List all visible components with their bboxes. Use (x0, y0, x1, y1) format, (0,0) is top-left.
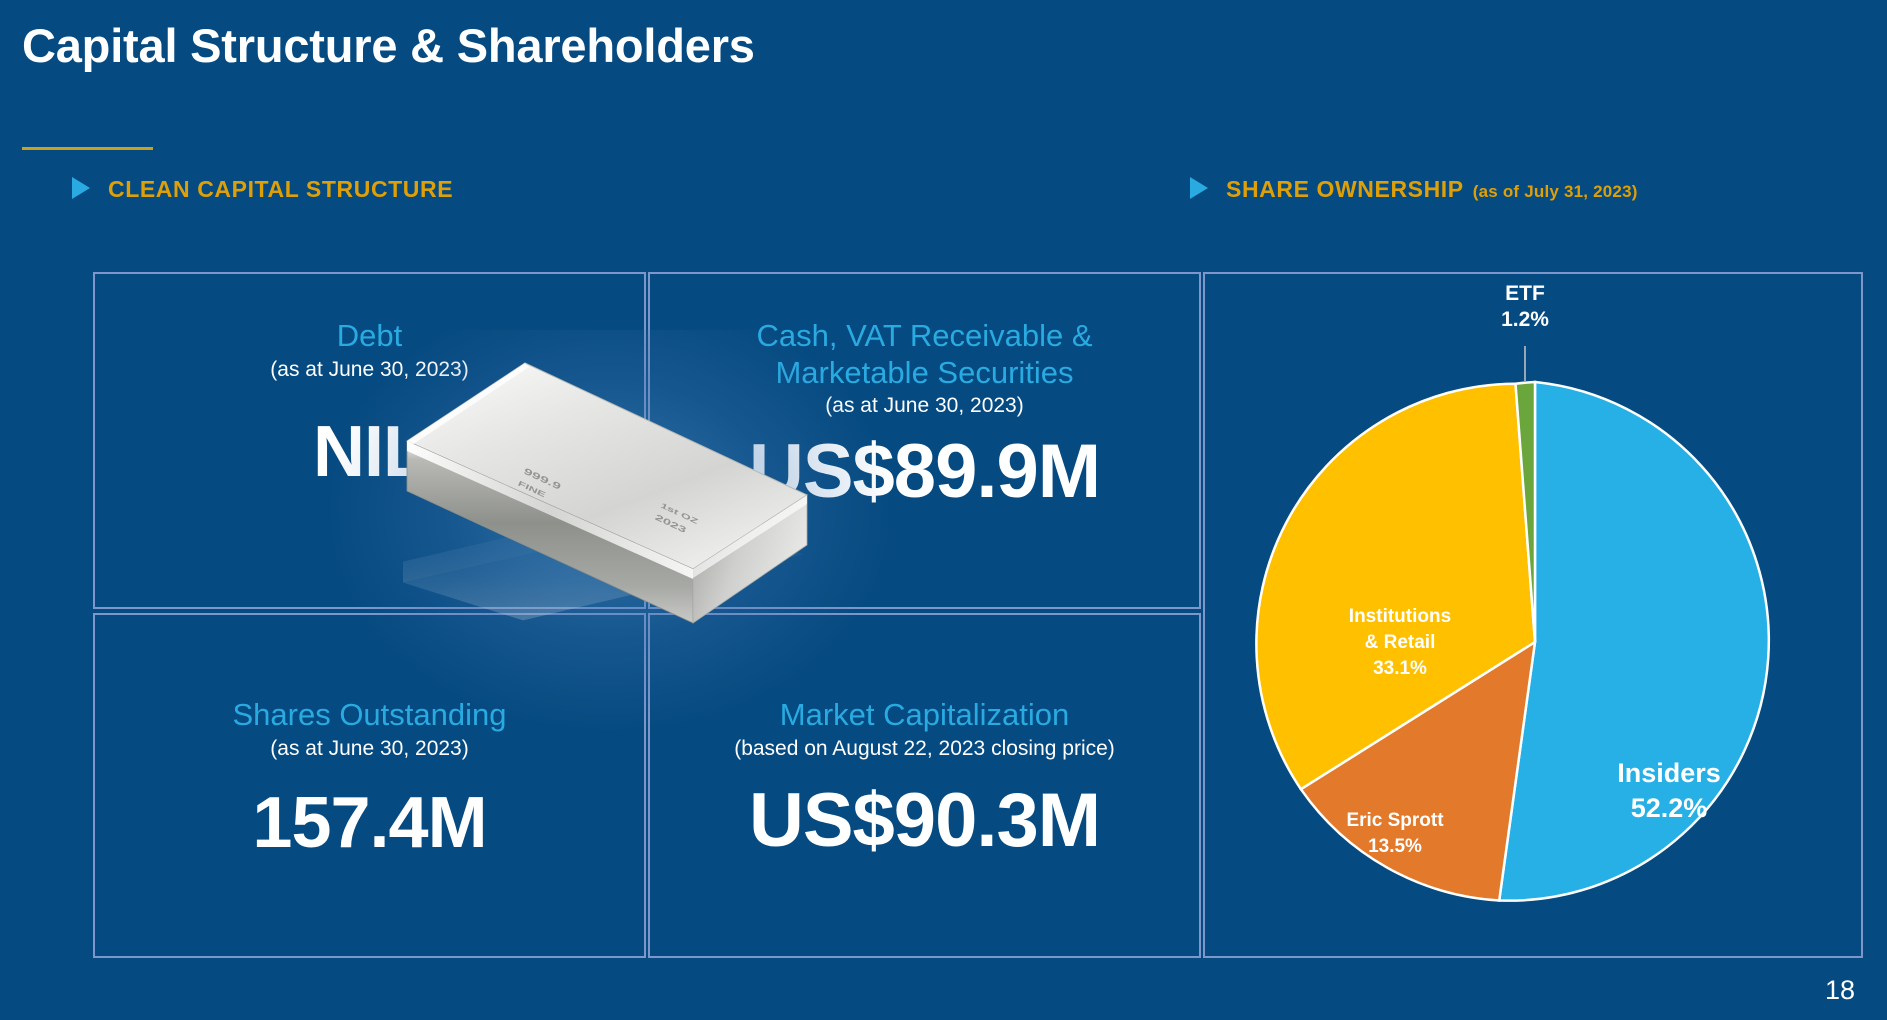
metric-card-shares-outstanding: Shares Outstanding (as at June 30, 2023)… (93, 613, 646, 958)
metric-date-cash: (as at June 30, 2023) (650, 394, 1199, 418)
share-ownership-panel: ETF 1.2% Insiders 52.2% Institutions & R… (1203, 272, 1863, 958)
pie-label-etf-name: ETF (1505, 282, 1545, 305)
pie-label-institutions-line1: Institutions (1349, 606, 1451, 627)
pie-label-etf-value: 1.2% (1501, 308, 1549, 331)
section-header-left-label: CLEAN CAPITAL STRUCTURE (108, 176, 453, 203)
section-header-clean-capital-structure: CLEAN CAPITAL STRUCTURE (72, 175, 453, 203)
metric-card-market-capitalization: Market Capitalization (based on August 2… (648, 613, 1201, 958)
pie-label-eric-sprott-name: Eric Sprott (1346, 810, 1444, 831)
metric-card-cash: Cash, VAT Receivable & Marketable Securi… (648, 272, 1201, 609)
pie-label-insiders-value: 52.2% (1631, 793, 1708, 823)
metric-value-shares: 157.4M (95, 787, 644, 859)
metric-date-mcap: (based on August 22, 2023 closing price) (650, 737, 1199, 761)
section-header-right-sublabel: (as of July 31, 2023) (1473, 182, 1638, 202)
pie-label-eric-sprott-value: 13.5% (1368, 836, 1422, 857)
share-ownership-pie-chart: ETF 1.2% Insiders 52.2% Institutions & R… (1205, 274, 1865, 960)
metric-title-mcap: Market Capitalization (650, 697, 1199, 734)
metric-value-mcap: US$90.3M (650, 783, 1199, 859)
metric-title-cash-line1: Cash, VAT Receivable & (650, 318, 1199, 355)
page-number: 18 (1825, 975, 1855, 1006)
triangle-right-icon (72, 177, 90, 199)
pie-label-insiders-name: Insiders (1617, 758, 1721, 788)
metric-value-debt: NIL (95, 416, 644, 488)
metric-value-cash: US$89.9M (650, 434, 1199, 510)
metric-date-shares: (as at June 30, 2023) (95, 737, 644, 761)
section-header-right-label: SHARE OWNERSHIP (1226, 176, 1464, 203)
metric-title-debt: Debt (95, 318, 644, 355)
triangle-right-icon (1190, 177, 1208, 199)
page-title: Capital Structure & Shareholders (22, 18, 755, 73)
metric-title-shares: Shares Outstanding (95, 697, 644, 734)
metric-card-debt: Debt (as at June 30, 2023) NIL (93, 272, 646, 609)
metric-date-debt: (as at June 30, 2023) (95, 358, 644, 382)
pie-label-institutions-value: 33.1% (1373, 658, 1427, 679)
title-underline-rule (22, 147, 153, 150)
section-header-share-ownership: SHARE OWNERSHIP (as of July 31, 2023) (1190, 175, 1638, 203)
metric-title-cash-line2: Marketable Securities (650, 355, 1199, 392)
slide-canvas: Capital Structure & Shareholders CLEAN C… (0, 0, 1887, 1020)
pie-label-institutions-line2: & Retail (1365, 632, 1436, 653)
